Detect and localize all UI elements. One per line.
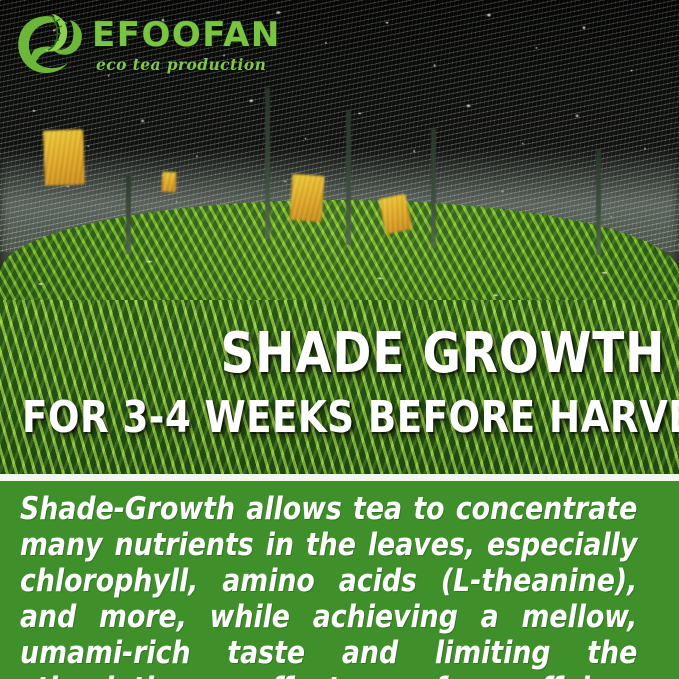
yellow-sticky-trap <box>43 129 85 185</box>
support-post <box>431 128 436 248</box>
support-post <box>126 176 131 254</box>
headline-primary: SHADE GROWTH <box>220 326 665 382</box>
leaf-swirl-logo-icon <box>12 10 86 80</box>
brand-logo[interactable]: EFOOFAN eco tea production <box>12 10 281 80</box>
brand-name: EFOOFAN <box>92 18 281 52</box>
product-infographic-card: EFOOFAN eco tea production SHADE GROWTH … <box>0 0 679 679</box>
brand-wordmark: EFOOFAN eco tea production <box>92 18 281 73</box>
caption-body: Shade-Growth allows tea to concentrate m… <box>20 491 637 679</box>
yellow-sticky-trap <box>161 172 176 193</box>
caption-panel: Shade-Growth allows tea to concentrate m… <box>0 481 679 679</box>
yellow-sticky-trap <box>289 174 324 222</box>
panel-divider <box>0 474 679 481</box>
headline-secondary: FOR 3-4 WEEKS BEFORE HARVEST <box>22 396 679 440</box>
support-post <box>346 110 351 245</box>
brand-tagline: eco tea production <box>96 57 281 73</box>
support-post <box>265 88 270 238</box>
support-post <box>596 150 601 255</box>
